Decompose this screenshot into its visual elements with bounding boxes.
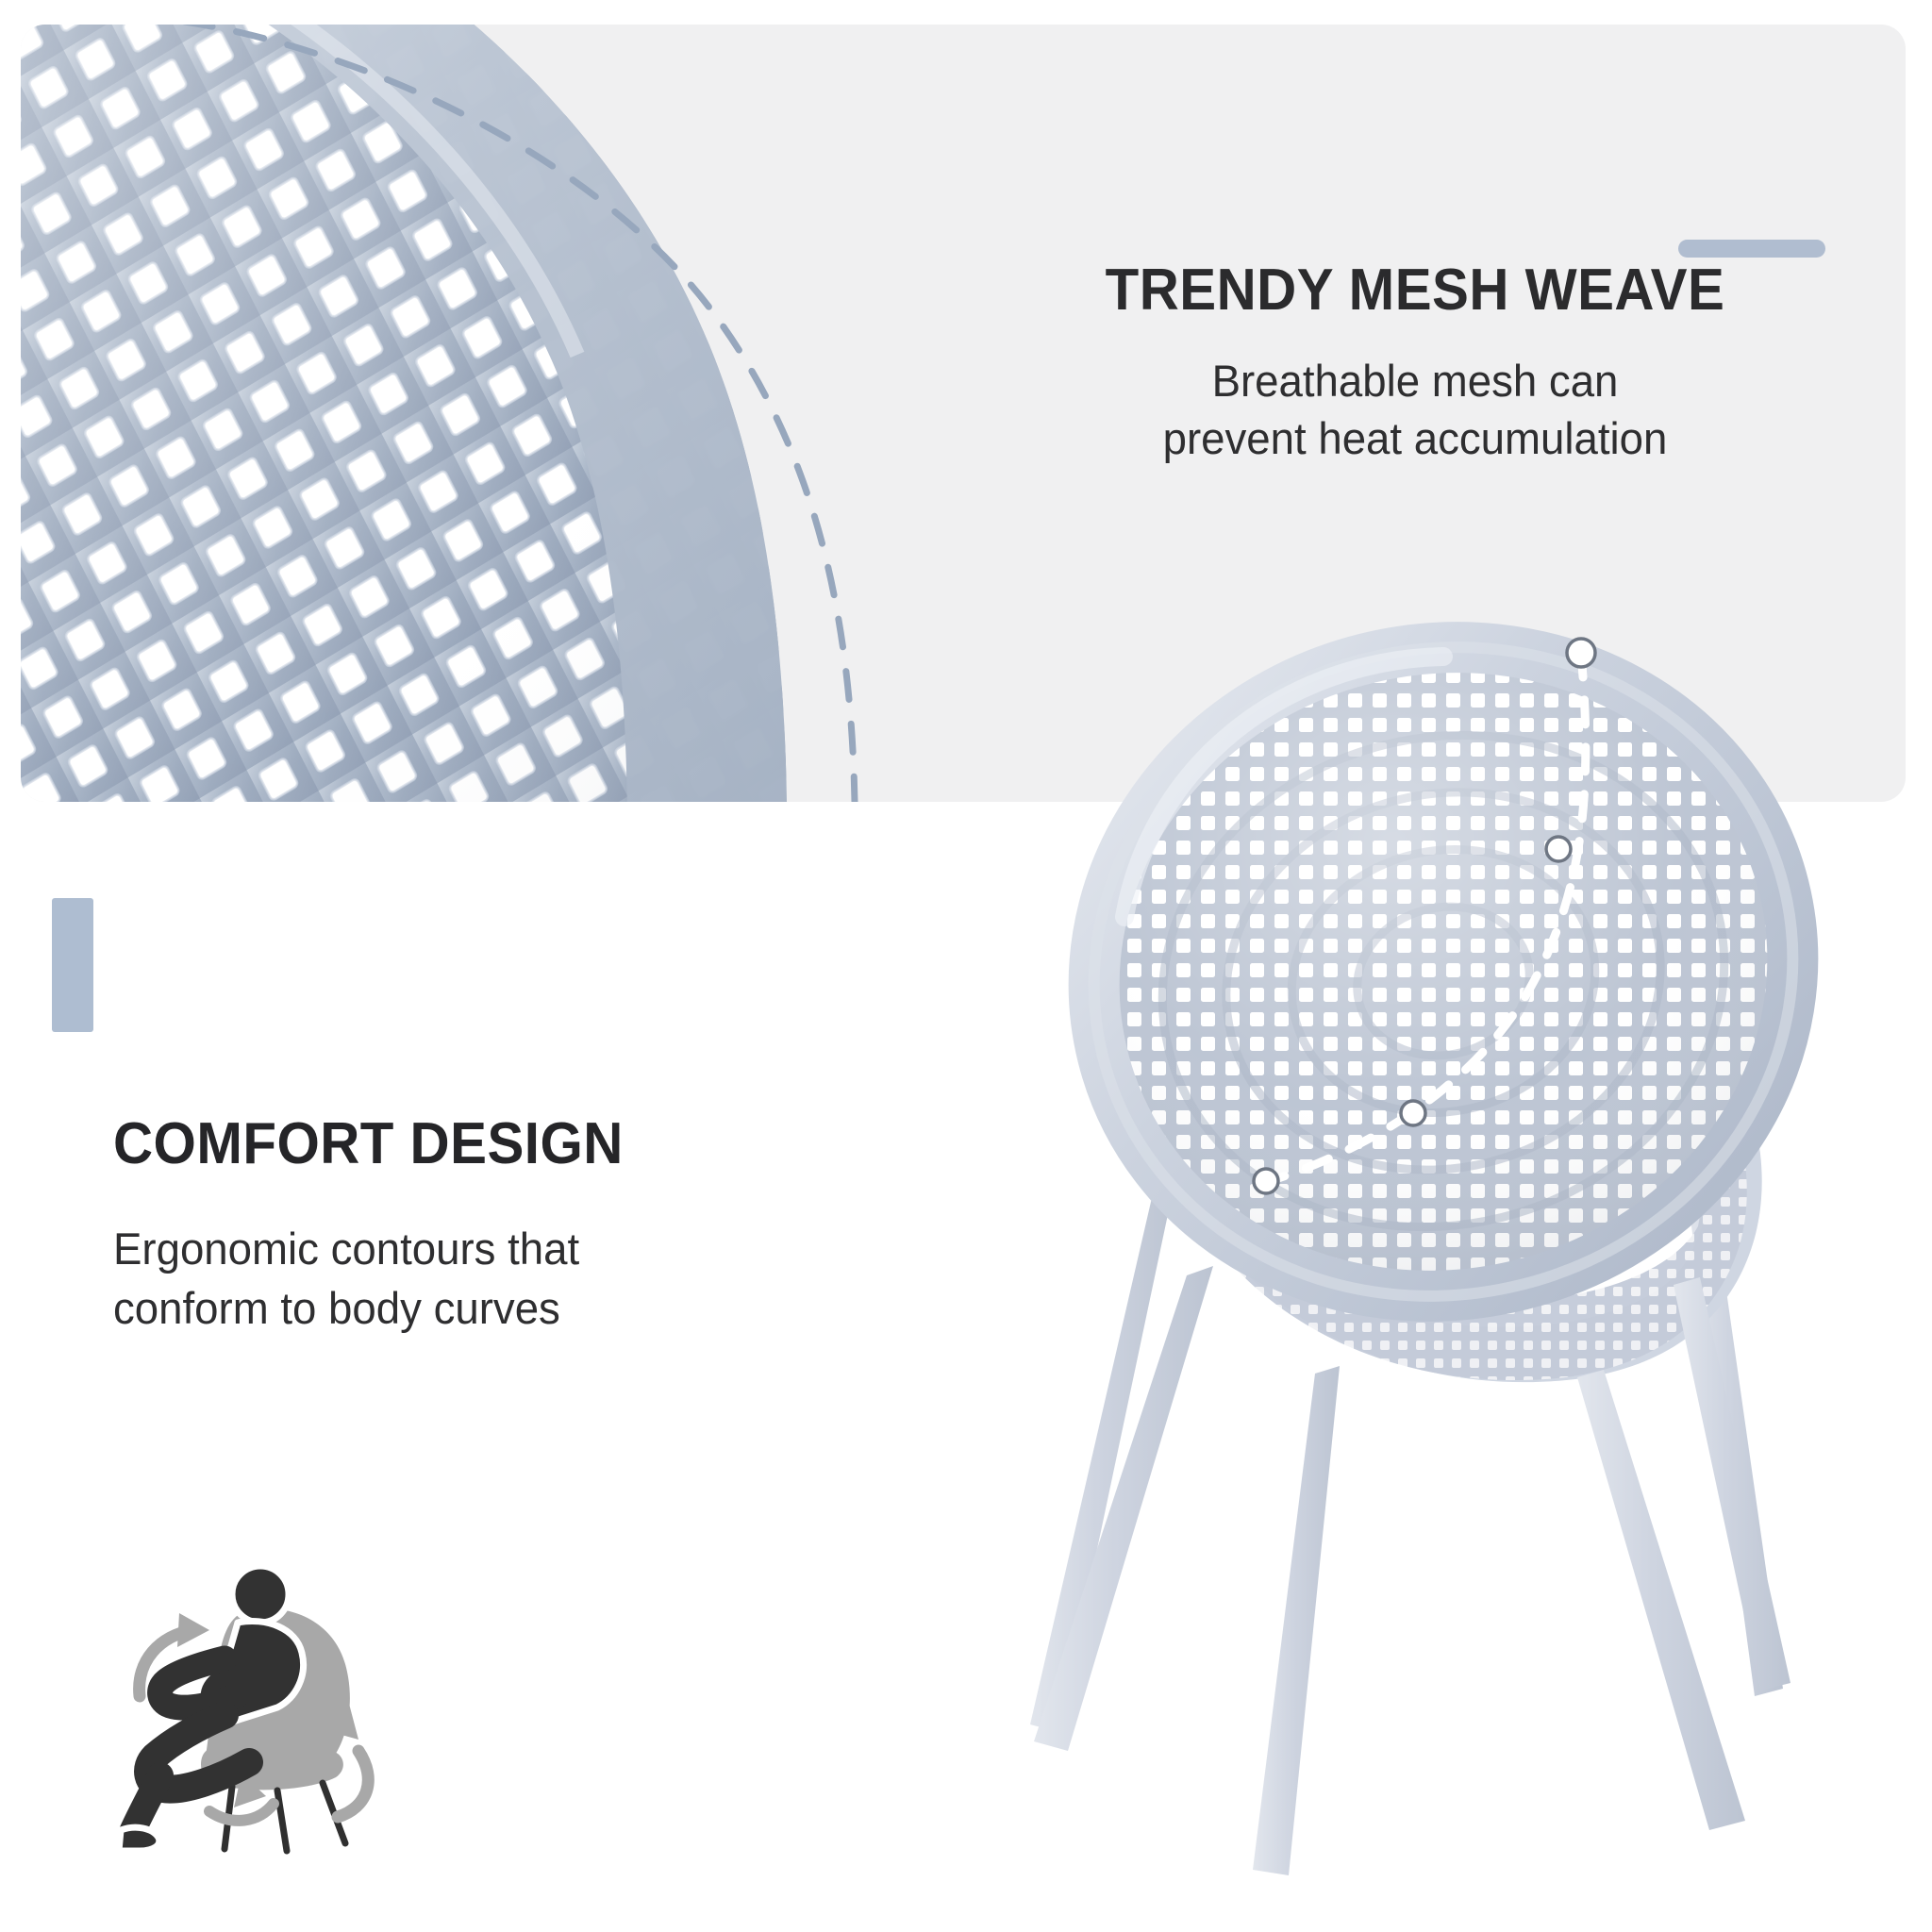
top-feature-subtitle: Breathable mesh can prevent heat accumul…: [1004, 353, 1827, 466]
bottom-feature-subtitle-line1: Ergonomic contours that: [113, 1224, 579, 1274]
mesh-chair-product-photo: [1000, 566, 1924, 1887]
ergonomic-seating-icon: [111, 1555, 385, 1857]
bottom-feature-text: COMFORT DESIGN Ergonomic contours that c…: [113, 1113, 962, 1338]
infographic-canvas: TRENDY MESH WEAVE Breathable mesh can pr…: [0, 0, 1932, 1932]
top-feature-subtitle-line1: Breathable mesh can: [1212, 356, 1619, 406]
top-feature-subtitle-line2: prevent heat accumulation: [1163, 413, 1668, 463]
bottom-feature-subtitle-line2: conform to body curves: [113, 1283, 560, 1333]
bottom-feature-subtitle: Ergonomic contours that conform to body …: [113, 1220, 937, 1338]
top-feature-title: TRENDY MESH WEAVE: [1016, 260, 1814, 321]
top-feature-text: TRENDY MESH WEAVE Breathable mesh can pr…: [991, 260, 1840, 467]
bottom-accent-bar: [52, 898, 93, 1032]
top-accent-bar: [1678, 240, 1825, 258]
mesh-weave-closeup-photo: [21, 25, 908, 802]
bottom-feature-title: COMFORT DESIGN: [113, 1113, 911, 1174]
